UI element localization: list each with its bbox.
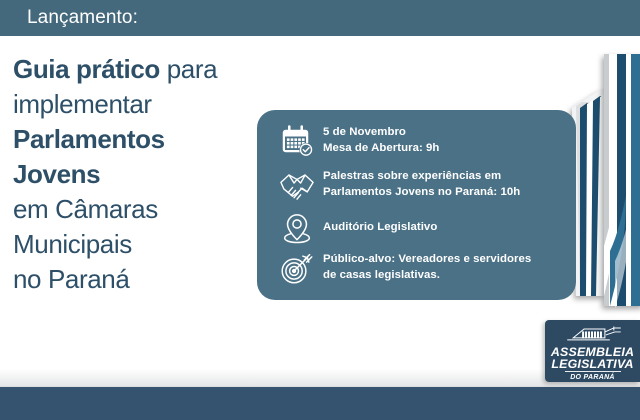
- logo-line-3: DO PARANÁ: [570, 373, 615, 382]
- top-banner-bar: Lançamento:: [0, 0, 640, 36]
- page-title: Guia prático para implementar Parlamento…: [13, 52, 283, 297]
- info-row-date: 5 de Novembro Mesa de Abertura: 9h: [271, 121, 562, 161]
- location-pin-icon: [271, 211, 323, 245]
- info-line: Público-alvo: Vereadores e servidores: [323, 252, 531, 268]
- calendar-check-icon: [271, 121, 323, 161]
- headline-line-1: Guia prático para: [13, 52, 283, 87]
- info-line: Mesa de Abertura: 9h: [323, 141, 439, 157]
- logo-divider: [565, 371, 621, 372]
- info-line: de casas legislativas.: [323, 268, 531, 284]
- info-text-date: 5 de Novembro Mesa de Abertura: 9h: [323, 121, 439, 156]
- headline-segment-bold: Guia prático: [13, 54, 167, 84]
- handshake-icon: [271, 166, 323, 206]
- headline-line-7: no Paraná: [13, 262, 283, 297]
- bottom-fade: [0, 369, 640, 387]
- bottom-bar: [0, 387, 640, 420]
- poster-canvas: Lançamento: Guia prático para implementa…: [0, 0, 640, 420]
- assembleia-building-icon: [562, 325, 624, 345]
- info-text-talks: Palestras sobre experiências em Parlamen…: [323, 166, 520, 200]
- info-line: 5 de Novembro: [323, 125, 439, 141]
- info-text-location: Auditório Legislativo: [323, 211, 437, 236]
- info-row-talks: Palestras sobre experiências em Parlamen…: [271, 166, 562, 206]
- headline-segment-light: para: [167, 54, 217, 84]
- headline-line-4: Jovens: [13, 157, 283, 192]
- info-line: Parlamentos Jovens no Paraná: 10h: [323, 185, 520, 201]
- event-info-card: 5 de Novembro Mesa de Abertura: 9h: [257, 110, 576, 300]
- headline-line-5: em Câmaras: [13, 192, 283, 227]
- assembleia-logo-badge: ASSEMBLEIA LEGISLATIVA DO PARANÁ: [545, 320, 640, 382]
- launch-label: Lançamento:: [27, 7, 138, 29]
- info-line: Palestras sobre experiências em: [323, 169, 520, 185]
- headline-line-6: Municipais: [13, 227, 283, 262]
- info-row-audience: Público-alvo: Vereadores e servidores de…: [271, 250, 562, 286]
- target-dart-icon: [271, 250, 323, 286]
- info-row-location: Auditório Legislativo: [271, 211, 562, 245]
- info-line: Auditório Legislativo: [323, 220, 437, 236]
- info-text-audience: Público-alvo: Vereadores e servidores de…: [323, 250, 531, 283]
- logo-line-2: LEGISLATIVA: [551, 358, 633, 371]
- headline-line-3: Parlamentos: [13, 122, 283, 157]
- headline-line-2: implementar: [13, 87, 283, 122]
